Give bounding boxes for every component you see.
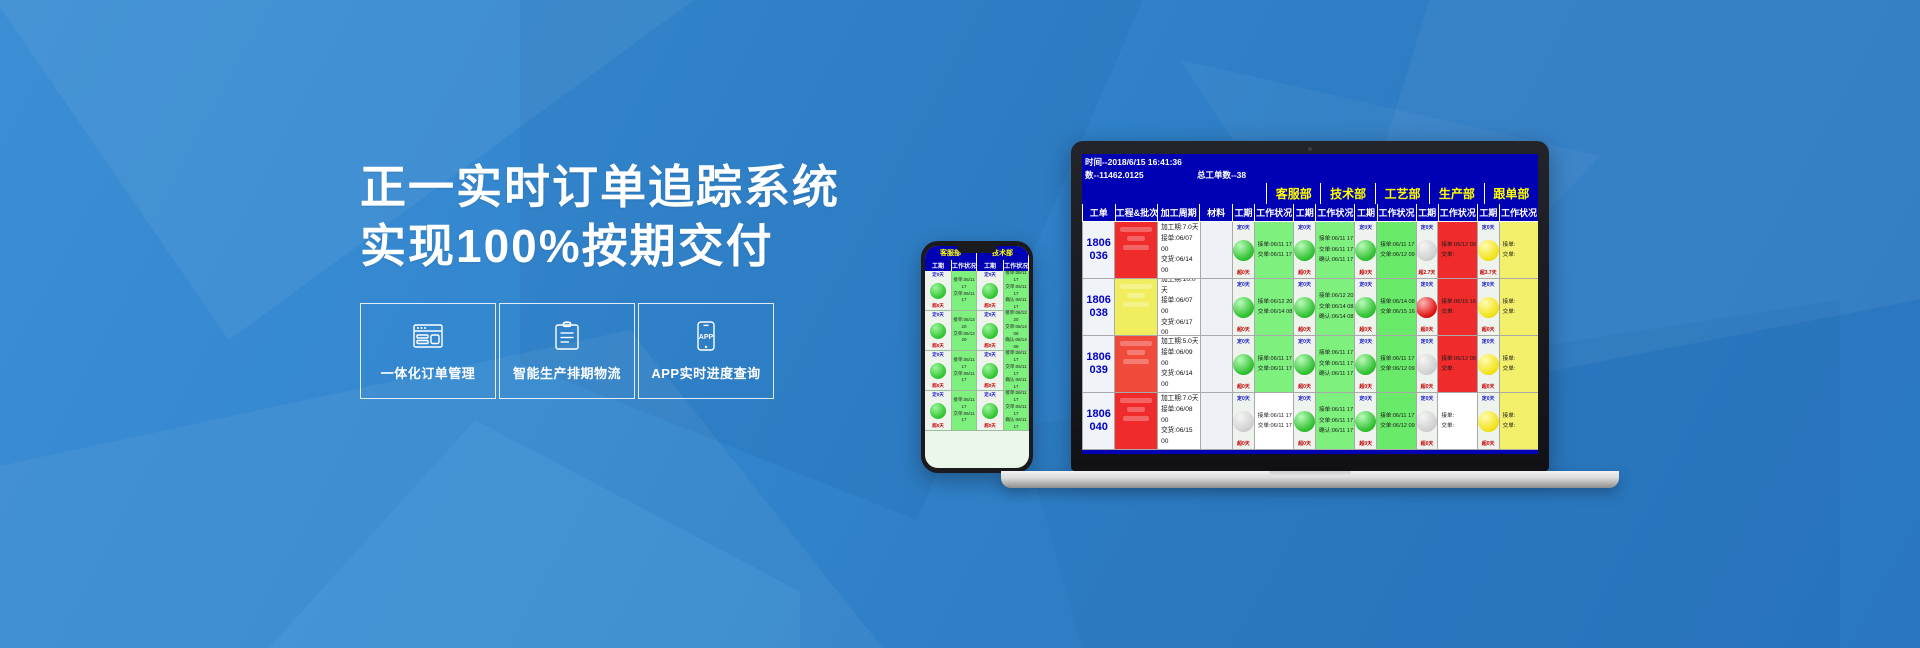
status-line: 接单: <box>1503 297 1516 307</box>
status-indicator-dot <box>1294 354 1315 375</box>
status-line: 接单:06/11 17 <box>1319 234 1353 244</box>
laptop-base <box>1001 471 1619 488</box>
status-line: 交单: <box>1503 364 1516 374</box>
work-status-cell: 接单:交单: <box>1499 279 1538 336</box>
work-status-cell: 接单:06/14 08交单:06/15 16 <box>1376 279 1415 336</box>
department-header: 跟单部 <box>1484 183 1538 204</box>
status-line: 接单:06/11 17 <box>1319 348 1353 358</box>
department-header: 生产部 <box>1429 183 1483 204</box>
work-order-cell: 1806036 <box>1082 222 1114 279</box>
column-header: 工作状况 <box>1315 204 1354 222</box>
phone-duration-tag-bottom: 超0天 <box>932 423 944 429</box>
duration-tag-top: 定0天 <box>1421 224 1434 231</box>
department-header-row: 客服部技术部工艺部生产部跟单部 <box>1082 183 1538 204</box>
status-line: 确认:06/14 08 <box>1319 312 1354 322</box>
status-line: 交单:06/11 17 <box>1258 250 1292 260</box>
status-line: 交单: <box>1503 250 1516 260</box>
phone-duration-tag-bottom: 超0天 <box>984 423 996 429</box>
column-header: 加工周期 <box>1157 204 1199 222</box>
status-line: 交单:06/15 16 <box>1380 307 1415 317</box>
status-line: 交单: <box>1441 364 1454 374</box>
duration-tag-top: 定0天 <box>1359 395 1372 402</box>
column-header: 材料 <box>1199 204 1232 222</box>
duration-cell: 定0天超0天 <box>1293 336 1315 393</box>
duration-tag-bottom: 超0天 <box>1359 326 1372 333</box>
column-header: 工期 <box>1354 204 1376 222</box>
duration-cell: 定0天超3.7天 <box>1477 222 1499 279</box>
work-order-prefix: 1806 <box>1086 237 1110 250</box>
work-order-suffix: 040 <box>1089 421 1107 434</box>
feature-label: 一体化订单管理 <box>381 363 476 382</box>
duration-tag-top: 定0天 <box>1482 338 1495 345</box>
duration-cell: 定0天超0天 <box>1354 393 1376 450</box>
work-status-cell: 接单:06/11 17交单:06/11 17确认:06/11 17 <box>1315 336 1354 393</box>
status-line: 交单: <box>1503 421 1516 431</box>
phone-status-line: 接单:06/11 17 <box>952 277 976 291</box>
duration-tag-top: 定0天 <box>1482 224 1495 231</box>
table-row[interactable]: 1806036加工期:7.0天接单:06/07 00交货:06/14 00定0天… <box>1082 222 1538 279</box>
column-header: 工期 <box>1477 204 1499 222</box>
phone-duration-tag-bottom: 超0天 <box>932 303 944 309</box>
duration-tag-bottom: 超0天 <box>1237 440 1250 447</box>
svg-text:APP: APP <box>699 334 714 341</box>
work-status-cell: 接单:交单: <box>1499 222 1538 279</box>
phone-status-indicator-dot <box>982 323 998 339</box>
column-header: 工期 <box>1232 204 1254 222</box>
duration-tag-bottom: 超0天 <box>1421 440 1434 447</box>
duration-tag-top: 定0天 <box>1421 281 1434 288</box>
duration-tag-top: 定0天 <box>1298 281 1311 288</box>
cycle-line: 加工期:10.0天 <box>1161 279 1200 296</box>
duration-tag-bottom: 超0天 <box>1359 440 1372 447</box>
cycle-line: 交货:06/15 00 <box>1161 426 1200 447</box>
duration-tag-top: 定0天 <box>1237 338 1250 345</box>
duration-tag-bottom: 超0天 <box>1298 440 1311 447</box>
duration-cell: 定0天超0天 <box>1354 279 1376 336</box>
webcam-icon <box>1308 147 1312 151</box>
dashboard-meta-row-1: 时间--2018/6/15 16:41:36 <box>1082 154 1538 168</box>
dashboard-table-body: 1806036加工期:7.0天接单:06/07 00交货:06/14 00定0天… <box>1082 222 1538 450</box>
dashboard-meta-row-2: 数--11462.0125 总工单数--38 <box>1082 168 1538 183</box>
phone-status-indicator-dot <box>982 283 998 299</box>
duration-tag-bottom: 超0天 <box>1359 383 1372 390</box>
column-header: 工作状况 <box>1377 204 1416 222</box>
work-order-suffix: 038 <box>1089 307 1107 320</box>
dashboard-time: 时间--2018/6/15 16:41:36 <box>1085 156 1265 168</box>
duration-tag-bottom: 超0天 <box>1359 269 1372 276</box>
cycle-line: 交货:06/17 00 <box>1161 318 1200 336</box>
dashboard-total-orders: 总工单数--38 <box>1197 169 1246 181</box>
duration-tag-top: 定0天 <box>1359 281 1372 288</box>
department-header: 技术部 <box>1320 183 1374 204</box>
processing-cycle-cell: 加工期:7.0天接单:06/07 00交货:06/14 00 <box>1157 222 1200 279</box>
phone-duration-tag-bottom: 超0天 <box>932 383 944 389</box>
duration-tag-bottom: 超0天 <box>1482 383 1495 390</box>
duration-tag-top: 定0天 <box>1359 224 1372 231</box>
phone-notch <box>957 245 997 253</box>
project-batch-cell <box>1114 222 1157 279</box>
status-indicator-dot <box>1355 354 1376 375</box>
status-line: 接单:06/12 09 <box>1441 354 1476 364</box>
banner-copy: 正一实时订单追踪系统 实现100%按期交付 一体化订单管理 <box>360 158 920 399</box>
work-status-cell: 接单:06/12 20交单:06/14 08 <box>1254 279 1293 336</box>
column-header: 工作状况 <box>1254 204 1293 222</box>
status-line: 接单:06/11 17 <box>1258 354 1292 364</box>
column-header: 工作状况 <box>1438 204 1477 222</box>
status-line: 确认:06/11 17 <box>1319 369 1353 379</box>
department-header: 客服部 <box>1266 183 1320 204</box>
duration-tag-top: 定0天 <box>1298 338 1311 345</box>
duration-cell: 定0天超0天 <box>1354 336 1376 393</box>
phone-status-text: 接单:06/12 20交单:06/12 20 <box>952 317 976 344</box>
work-status-cell: 接单:交单: <box>1499 393 1538 450</box>
phone-subheader: 工期 <box>925 260 952 271</box>
status-indicator-dot <box>1294 240 1315 261</box>
duration-cell: 定0天超0天 <box>1477 336 1499 393</box>
duration-tag-bottom: 超0天 <box>1237 326 1250 333</box>
phone-duration-tag-top: 定0天 <box>932 312 944 318</box>
table-row[interactable]: 1806038加工期:10.0天接单:06/07 00交货:06/17 00定0… <box>1082 279 1538 336</box>
status-line: 接单: <box>1503 411 1516 421</box>
cycle-line: 接单:06/09 00 <box>1161 348 1200 369</box>
phone-status-indicator-dot <box>930 403 946 419</box>
phone-duration-cell: 定0天超0天 <box>925 391 952 430</box>
order-tracking-dashboard[interactable]: 时间--2018/6/15 16:41:36 数--11462.0125 总工单… <box>1082 154 1538 450</box>
duration-tag-bottom: 超3.7天 <box>1480 269 1497 276</box>
column-header-row: 工单工程&批次加工周期材料工期工作状况工期工作状况工期工作状况工期工作状况工期工… <box>1082 204 1538 222</box>
cycle-line: 加工期:7.0天 <box>1161 394 1198 405</box>
status-line: 接单: <box>1441 411 1454 421</box>
status-line: 接单:06/12 09 <box>1441 240 1476 250</box>
phone-status-line: 接单:06/11 17 <box>952 397 976 411</box>
material-cell <box>1200 393 1232 450</box>
phone-status-text: 接单:06/11 17交单:06/11 17 <box>952 277 976 304</box>
duration-cell: 定0天超2.7天 <box>1416 222 1438 279</box>
work-order-suffix: 039 <box>1089 364 1107 377</box>
work-status-cell: 接单:交单: <box>1499 336 1538 393</box>
mobile-app-icon: APP <box>689 319 723 353</box>
duration-cell: 定0天超0天 <box>1416 393 1438 450</box>
status-indicator-dot <box>1416 354 1437 375</box>
phone-status-line: 交单:06/11 17 <box>952 371 976 385</box>
laptop-screen[interactable]: 时间--2018/6/15 16:41:36 数--11462.0125 总工单… <box>1082 154 1538 454</box>
duration-tag-top: 定0天 <box>1298 224 1311 231</box>
status-line: 交单: <box>1441 307 1454 317</box>
work-status-cell: 接单:06/11 17交单:06/11 17 <box>1254 393 1293 450</box>
status-line: 交单:06/12 09 <box>1380 421 1415 431</box>
headline-line-1: 正一实时订单追踪系统 <box>360 158 920 217</box>
status-line: 交单: <box>1441 250 1454 260</box>
status-indicator-dot <box>1233 354 1254 375</box>
project-batch-cell <box>1114 336 1157 393</box>
phone-work-status-cell: 接单:06/12 20交单:06/12 20 <box>952 311 977 350</box>
laptop-trackpad-notch <box>1269 471 1351 477</box>
material-cell <box>1200 279 1232 336</box>
status-line: 交单: <box>1441 421 1454 431</box>
status-indicator-dot <box>1355 240 1376 261</box>
work-status-cell: 接单:06/12 09交单: <box>1437 336 1476 393</box>
phone-status-indicator-dot <box>930 283 946 299</box>
work-status-cell: 接单:06/12 20交单:06/14 08确认:06/14 08 <box>1315 279 1354 336</box>
column-header: 工期 <box>1293 204 1315 222</box>
status-line: 接单:06/11 17 <box>1380 354 1414 364</box>
feature-label: APP实时进度查询 <box>651 363 760 382</box>
laptop-mockup: 时间--2018/6/15 16:41:36 数--11462.0125 总工单… <box>1001 141 1619 488</box>
duration-tag-top: 定0天 <box>1482 281 1495 288</box>
duration-tag-top: 定0天 <box>1298 395 1311 402</box>
status-indicator-dot <box>1294 411 1315 432</box>
status-indicator-dot <box>1416 411 1437 432</box>
work-order-suffix: 036 <box>1089 250 1107 263</box>
phone-duration-tag-top: 定4天 <box>984 392 996 398</box>
cycle-line: 交货:06/14 00 <box>1161 255 1200 276</box>
duration-tag-top: 定0天 <box>1237 224 1250 231</box>
status-line: 接单:06/11 17 <box>1258 411 1292 421</box>
phone-duration-tag-bottom: 超0天 <box>984 343 996 349</box>
phone-status-indicator-dot <box>930 363 946 379</box>
duration-tag-bottom: 超0天 <box>1421 326 1434 333</box>
work-status-cell: 接单:06/11 17交单:06/11 17 <box>1254 336 1293 393</box>
phone-status-line: 交单:06/11 17 <box>952 291 976 305</box>
work-status-cell: 接单:交单: <box>1437 393 1476 450</box>
status-indicator-dot <box>1416 297 1437 318</box>
phone-status-indicator-dot <box>982 363 998 379</box>
duration-tag-bottom: 超0天 <box>1482 326 1495 333</box>
duration-tag-top: 定0天 <box>1237 395 1250 402</box>
phone-duration-tag-bottom: 超0天 <box>932 343 944 349</box>
phone-duration-cell: 定0天超0天 <box>977 311 1004 350</box>
status-line: 交单:06/11 17 <box>1319 245 1353 255</box>
phone-status-line: 交单:06/11 17 <box>952 411 976 425</box>
feature-row: 一体化订单管理 智能生产排期物流 <box>360 303 920 399</box>
duration-tag-top: 定0天 <box>1482 395 1495 402</box>
work-order-cell: 1806038 <box>1082 279 1114 336</box>
duration-cell: 定0天超0天 <box>1293 393 1315 450</box>
status-line: 确认:06/11 17 <box>1319 426 1353 436</box>
duration-cell: 定0天超0天 <box>1477 393 1499 450</box>
cycle-line: 交货:06/14 00 <box>1161 369 1200 390</box>
work-status-cell: 接单:06/11 17交单:06/12 09 <box>1376 222 1415 279</box>
status-line: 交单:06/11 17 <box>1258 421 1292 431</box>
work-order-cell: 1806040 <box>1082 393 1114 450</box>
laptop-lid: 时间--2018/6/15 16:41:36 数--11462.0125 总工单… <box>1071 141 1549 471</box>
phone-status-text: 接单:06/11 17交单:06/11 17 <box>952 397 976 424</box>
status-line: 接单: <box>1503 240 1516 250</box>
headline-line-2: 实现100%按期交付 <box>360 217 920 276</box>
duration-cell: 定0天超0天 <box>1416 336 1438 393</box>
dashboard-window-icon <box>411 319 445 353</box>
duration-tag-top: 定0天 <box>1237 281 1250 288</box>
project-batch-cell <box>1114 279 1157 336</box>
duration-cell: 定0天超0天 <box>1232 222 1254 279</box>
cycle-line: 加工期:5.0天 <box>1161 337 1198 348</box>
duration-cell: 定0天超0天 <box>1293 222 1315 279</box>
phone-duration-tag-top: 定0天 <box>984 352 996 358</box>
work-order-prefix: 1806 <box>1086 294 1110 307</box>
phone-duration-tag-bottom: 超0天 <box>984 383 996 389</box>
column-header: 工程&批次 <box>1115 204 1157 222</box>
status-indicator-dot <box>1355 297 1376 318</box>
material-cell <box>1200 222 1232 279</box>
processing-cycle-cell: 加工期:7.0天接单:06/08 00交货:06/15 00 <box>1157 393 1200 450</box>
phone-duration-cell: 定4天超0天 <box>977 391 1004 430</box>
status-line: 交单:06/11 17 <box>1319 416 1353 426</box>
work-status-cell: 接单:06/11 17交单:06/11 17 <box>1254 222 1293 279</box>
status-indicator-dot <box>1233 411 1254 432</box>
duration-cell: 定0天超0天 <box>1354 222 1376 279</box>
phone-duration-tag-top: 定0天 <box>932 272 944 278</box>
status-indicator-dot <box>1478 354 1499 375</box>
phone-status-indicator-dot <box>930 323 946 339</box>
work-status-cell: 接单:06/15 16交单: <box>1437 279 1476 336</box>
phone-duration-tag-top: 定0天 <box>932 352 944 358</box>
status-line: 交单:06/11 17 <box>1258 364 1292 374</box>
duration-tag-top: 定0天 <box>1421 395 1434 402</box>
status-line: 确认:06/11 17 <box>1319 255 1353 265</box>
phone-work-status-cell: 接单:06/11 17交单:06/11 17 <box>952 351 977 390</box>
status-indicator-dot <box>1233 240 1254 261</box>
duration-cell: 定0天超0天 <box>1416 279 1438 336</box>
work-order-cell: 1806039 <box>1082 336 1114 393</box>
status-line: 交单:06/11 17 <box>1319 359 1353 369</box>
status-indicator-dot <box>1355 411 1376 432</box>
phone-duration-tag-top: 定0天 <box>984 312 996 318</box>
column-header: 工作状况 <box>1499 204 1538 222</box>
status-line: 接单:06/12 20 <box>1258 297 1293 307</box>
status-line: 交单:06/14 08 <box>1319 302 1354 312</box>
duration-cell: 定0天超0天 <box>1293 279 1315 336</box>
table-row[interactable]: 1806039加工期:5.0天接单:06/09 00交货:06/14 00定0天… <box>1082 336 1538 393</box>
phone-status-text: 接单:06/11 17交单:06/11 17 <box>952 357 976 384</box>
status-line: 交单:06/14 08 <box>1258 307 1293 317</box>
phone-duration-cell: 定0天超0天 <box>977 271 1004 310</box>
status-line: 交单:06/12 09 <box>1380 364 1415 374</box>
table-row[interactable]: 1806040加工期:7.0天接单:06/08 00交货:06/15 00定0天… <box>1082 393 1538 450</box>
cycle-line: 接单:06/07 00 <box>1161 234 1200 255</box>
feature-card-app-progress-query[interactable]: APP APP实时进度查询 <box>638 303 774 399</box>
clipboard-schedule-icon <box>550 319 584 353</box>
status-line: 接单:06/14 08 <box>1380 297 1415 307</box>
duration-tag-bottom: 超0天 <box>1298 269 1311 276</box>
column-header: 工单 <box>1082 204 1115 222</box>
phone-work-status-cell: 接单:06/11 17交单:06/11 17 <box>952 391 977 430</box>
phone-status-line: 交单:06/12 20 <box>952 331 976 345</box>
duration-tag-bottom: 超0天 <box>1482 440 1495 447</box>
feature-card-production-scheduling[interactable]: 智能生产排期物流 <box>499 303 635 399</box>
work-status-cell: 接单:06/11 17交单:06/12 09 <box>1376 393 1415 450</box>
status-line: 接单:06/11 17 <box>1380 240 1414 250</box>
status-line: 接单:06/11 17 <box>1258 240 1292 250</box>
status-line: 接单:06/12 20 <box>1319 291 1354 301</box>
cycle-line: 接单:06/08 00 <box>1161 405 1200 426</box>
duration-tag-bottom: 超0天 <box>1237 383 1250 390</box>
cycle-line: 接单:06/07 00 <box>1161 296 1200 317</box>
work-status-cell: 接单:06/11 17交单:06/11 17确认:06/11 17 <box>1315 222 1354 279</box>
duration-tag-top: 定0天 <box>1359 338 1372 345</box>
phone-duration-cell: 定0天超0天 <box>925 271 952 310</box>
project-batch-cell <box>1114 393 1157 450</box>
work-status-cell: 接单:06/11 17交单:06/12 09 <box>1376 336 1415 393</box>
duration-cell: 定0天超0天 <box>1232 279 1254 336</box>
duration-cell: 定0天超0天 <box>1477 279 1499 336</box>
phone-status-line: 接单:06/12 20 <box>952 317 976 331</box>
phone-work-status-cell: 接单:06/11 17交单:06/11 17 <box>952 271 977 310</box>
department-header-spacer <box>1082 183 1266 204</box>
material-cell <box>1200 336 1232 393</box>
phone-duration-tag-top: 定0天 <box>984 272 996 278</box>
status-indicator-dot <box>1416 240 1437 261</box>
status-line: 接单:06/15 16 <box>1441 297 1476 307</box>
duration-tag-top: 定0天 <box>1421 338 1434 345</box>
status-indicator-dot <box>1478 297 1499 318</box>
status-line: 接单: <box>1503 354 1516 364</box>
duration-tag-bottom: 超2.7天 <box>1418 269 1435 276</box>
dashboard-count: 数--11462.0125 <box>1085 169 1197 181</box>
status-indicator-dot <box>1294 297 1315 318</box>
duration-tag-bottom: 超0天 <box>1298 383 1311 390</box>
phone-status-indicator-dot <box>982 403 998 419</box>
status-line: 交单:06/12 09 <box>1380 250 1415 260</box>
column-header: 工期 <box>1416 204 1438 222</box>
feature-label: 智能生产排期物流 <box>513 363 621 382</box>
status-indicator-dot <box>1233 297 1254 318</box>
phone-duration-cell: 定0天超0天 <box>925 351 952 390</box>
cycle-line: 加工期:7.0天 <box>1161 223 1198 234</box>
duration-cell: 定0天超0天 <box>1232 393 1254 450</box>
status-indicator-dot <box>1478 411 1499 432</box>
processing-cycle-cell: 加工期:10.0天接单:06/07 00交货:06/17 00 <box>1157 279 1200 336</box>
duration-cell: 定0天超0天 <box>1232 336 1254 393</box>
phone-duration-tag-top: 定0天 <box>932 392 944 398</box>
phone-status-line: 接单:06/11 17 <box>952 357 976 371</box>
feature-card-order-management[interactable]: 一体化订单管理 <box>360 303 496 399</box>
status-line: 接单:06/11 17 <box>1319 405 1353 415</box>
duration-tag-bottom: 超0天 <box>1298 326 1311 333</box>
status-line: 交单: <box>1503 307 1516 317</box>
duration-tag-bottom: 超0天 <box>1421 383 1434 390</box>
status-indicator-dot <box>1478 240 1499 261</box>
status-line: 接单:06/11 17 <box>1380 411 1414 421</box>
work-status-cell: 接单:06/11 17交单:06/11 17确认:06/11 17 <box>1315 393 1354 450</box>
processing-cycle-cell: 加工期:5.0天接单:06/09 00交货:06/14 00 <box>1157 336 1200 393</box>
work-status-cell: 接单:06/12 09交单: <box>1437 222 1476 279</box>
work-order-prefix: 1806 <box>1086 408 1110 421</box>
phone-duration-tag-bottom: 超0天 <box>984 303 996 309</box>
work-order-prefix: 1806 <box>1086 351 1110 364</box>
duration-tag-bottom: 超0天 <box>1237 269 1250 276</box>
phone-duration-cell: 定0天超0天 <box>977 351 1004 390</box>
department-header: 工艺部 <box>1375 183 1429 204</box>
phone-subheader: 工作状况 <box>952 260 977 271</box>
phone-duration-cell: 定0天超0天 <box>925 311 952 350</box>
